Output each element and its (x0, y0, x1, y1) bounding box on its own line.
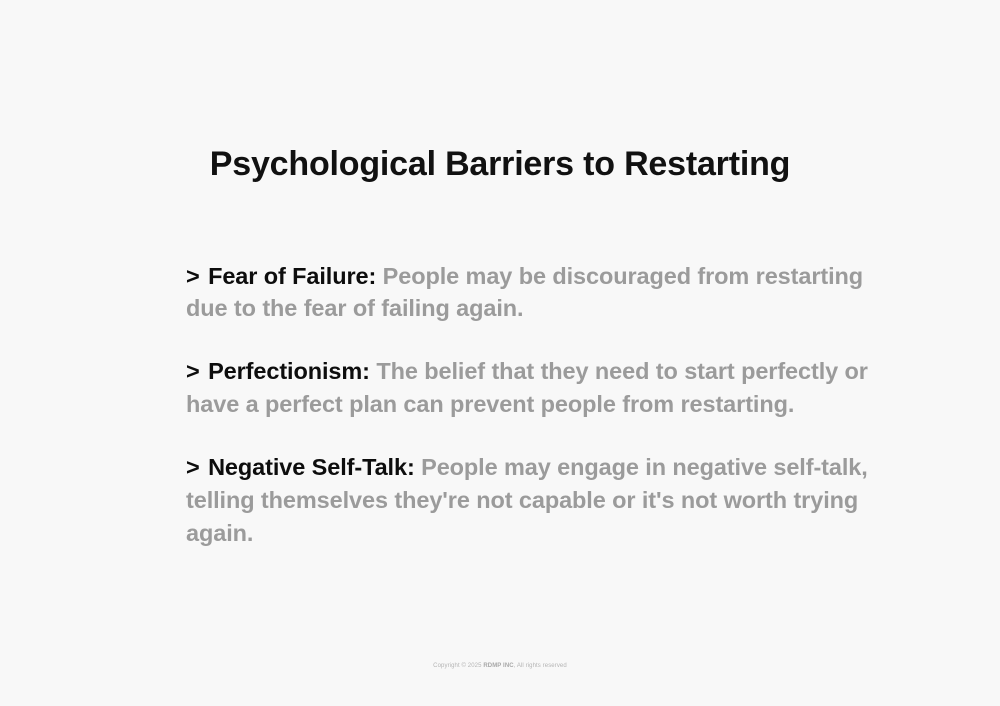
list-item: > Perfectionism: The belief that they ne… (186, 355, 892, 421)
bullet-label: Negative Self-Talk: (208, 454, 415, 480)
bullet-label: Perfectionism: (208, 358, 370, 384)
list-item: > Fear of Failure: People may be discour… (186, 260, 892, 326)
bullet-list: > Fear of Failure: People may be discour… (186, 236, 892, 550)
chevron-right-icon: > (186, 263, 200, 289)
copyright-prefix: Copyright © 2025 (433, 663, 483, 669)
copyright-footer: Copyright © 2025 RDMP INC, All rights re… (0, 663, 1000, 669)
brand-name: RDMP INC (483, 663, 513, 669)
bullet-label: Fear of Failure: (208, 263, 376, 289)
copyright-suffix: , All rights reserved (514, 663, 567, 669)
page-title: Psychological Barriers to Restarting (0, 144, 1000, 185)
chevron-right-icon: > (186, 454, 200, 480)
chevron-right-icon: > (186, 358, 200, 384)
list-item: > Negative Self-Talk: People may engage … (186, 451, 892, 550)
slide-canvas: Psychological Barriers to Restarting > F… (0, 0, 1000, 706)
